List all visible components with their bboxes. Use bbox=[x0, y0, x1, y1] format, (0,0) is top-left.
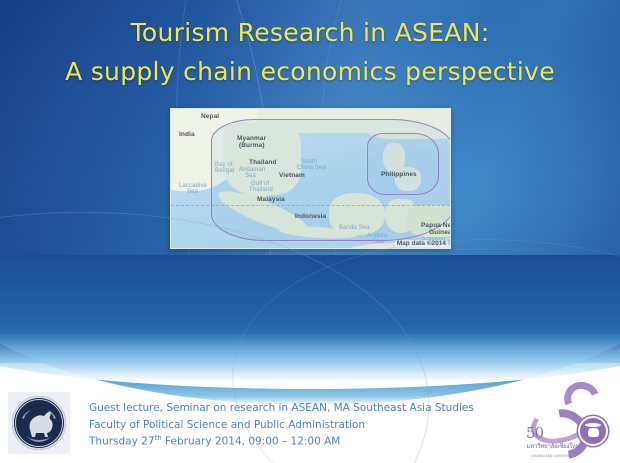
map-label: India bbox=[179, 131, 195, 138]
footer-date-suffix: February 2014, 09:00 – 12:00 AM bbox=[162, 436, 341, 448]
map-label: Thailand bbox=[249, 159, 277, 166]
seal-inner-ring bbox=[15, 399, 63, 447]
slide-title-line-1: Tourism Research in ASEAN: bbox=[0, 18, 620, 49]
university-seal-logo bbox=[8, 392, 70, 454]
map-label: Sea bbox=[245, 173, 256, 179]
map-philippines-boundary bbox=[367, 133, 439, 195]
slide-title-block: Tourism Research in ASEAN: A supply chai… bbox=[0, 18, 620, 87]
map-label: Philippines bbox=[381, 171, 417, 178]
slide-title-line-2: A supply chain economics perspective bbox=[0, 57, 620, 88]
cmu-logo-number-text: 50 bbox=[526, 424, 543, 442]
cmu-logo-thai-text: มหาวิทยาลัยเชียงใหม่ bbox=[522, 441, 584, 451]
footer-line-2: Faculty of Political Science and Public … bbox=[89, 417, 474, 434]
map-label: Thailand bbox=[249, 187, 273, 193]
presentation-slide: Tourism Research in ASEAN: A supply chai… bbox=[0, 0, 620, 463]
footer-line-1: Guest lecture, Seminar on research in AS… bbox=[89, 400, 474, 417]
map-label: Nepal bbox=[201, 113, 219, 120]
footer-text-block: Guest lecture, Seminar on research in AS… bbox=[89, 400, 474, 450]
cmu-50th-anniversary-logo: 50 มหาวิทยาลัยเชียงใหม่ CHIANG MAI UNIVE… bbox=[522, 380, 614, 460]
map-label: Indonesia bbox=[295, 213, 326, 220]
map-label: Sea bbox=[373, 239, 384, 245]
map-label: Malaysia bbox=[257, 196, 285, 203]
map-label: Papua New bbox=[421, 222, 451, 229]
map-label: Guinea bbox=[429, 229, 451, 236]
footer-line-3: Thursday 27th February 2014, 09:00 – 12:… bbox=[89, 433, 474, 450]
cmu-logo-number: 50 bbox=[526, 424, 543, 442]
map-label: Sea bbox=[187, 189, 198, 195]
map-label: (Burma) bbox=[239, 142, 265, 149]
map-equator-line bbox=[171, 205, 450, 206]
map-label: Myanmar bbox=[237, 135, 266, 142]
footer-date-ordinal: th bbox=[155, 434, 162, 442]
cmu-logo-english-text: CHIANG MAI UNIVERSITY bbox=[522, 454, 584, 458]
map-label: China Sea bbox=[297, 165, 326, 171]
map-label: Bengal bbox=[215, 168, 234, 174]
map-label: Banda Sea bbox=[339, 225, 370, 231]
map-label: Vietnam bbox=[279, 172, 305, 179]
footer-date-prefix: Thursday 27 bbox=[89, 436, 155, 448]
